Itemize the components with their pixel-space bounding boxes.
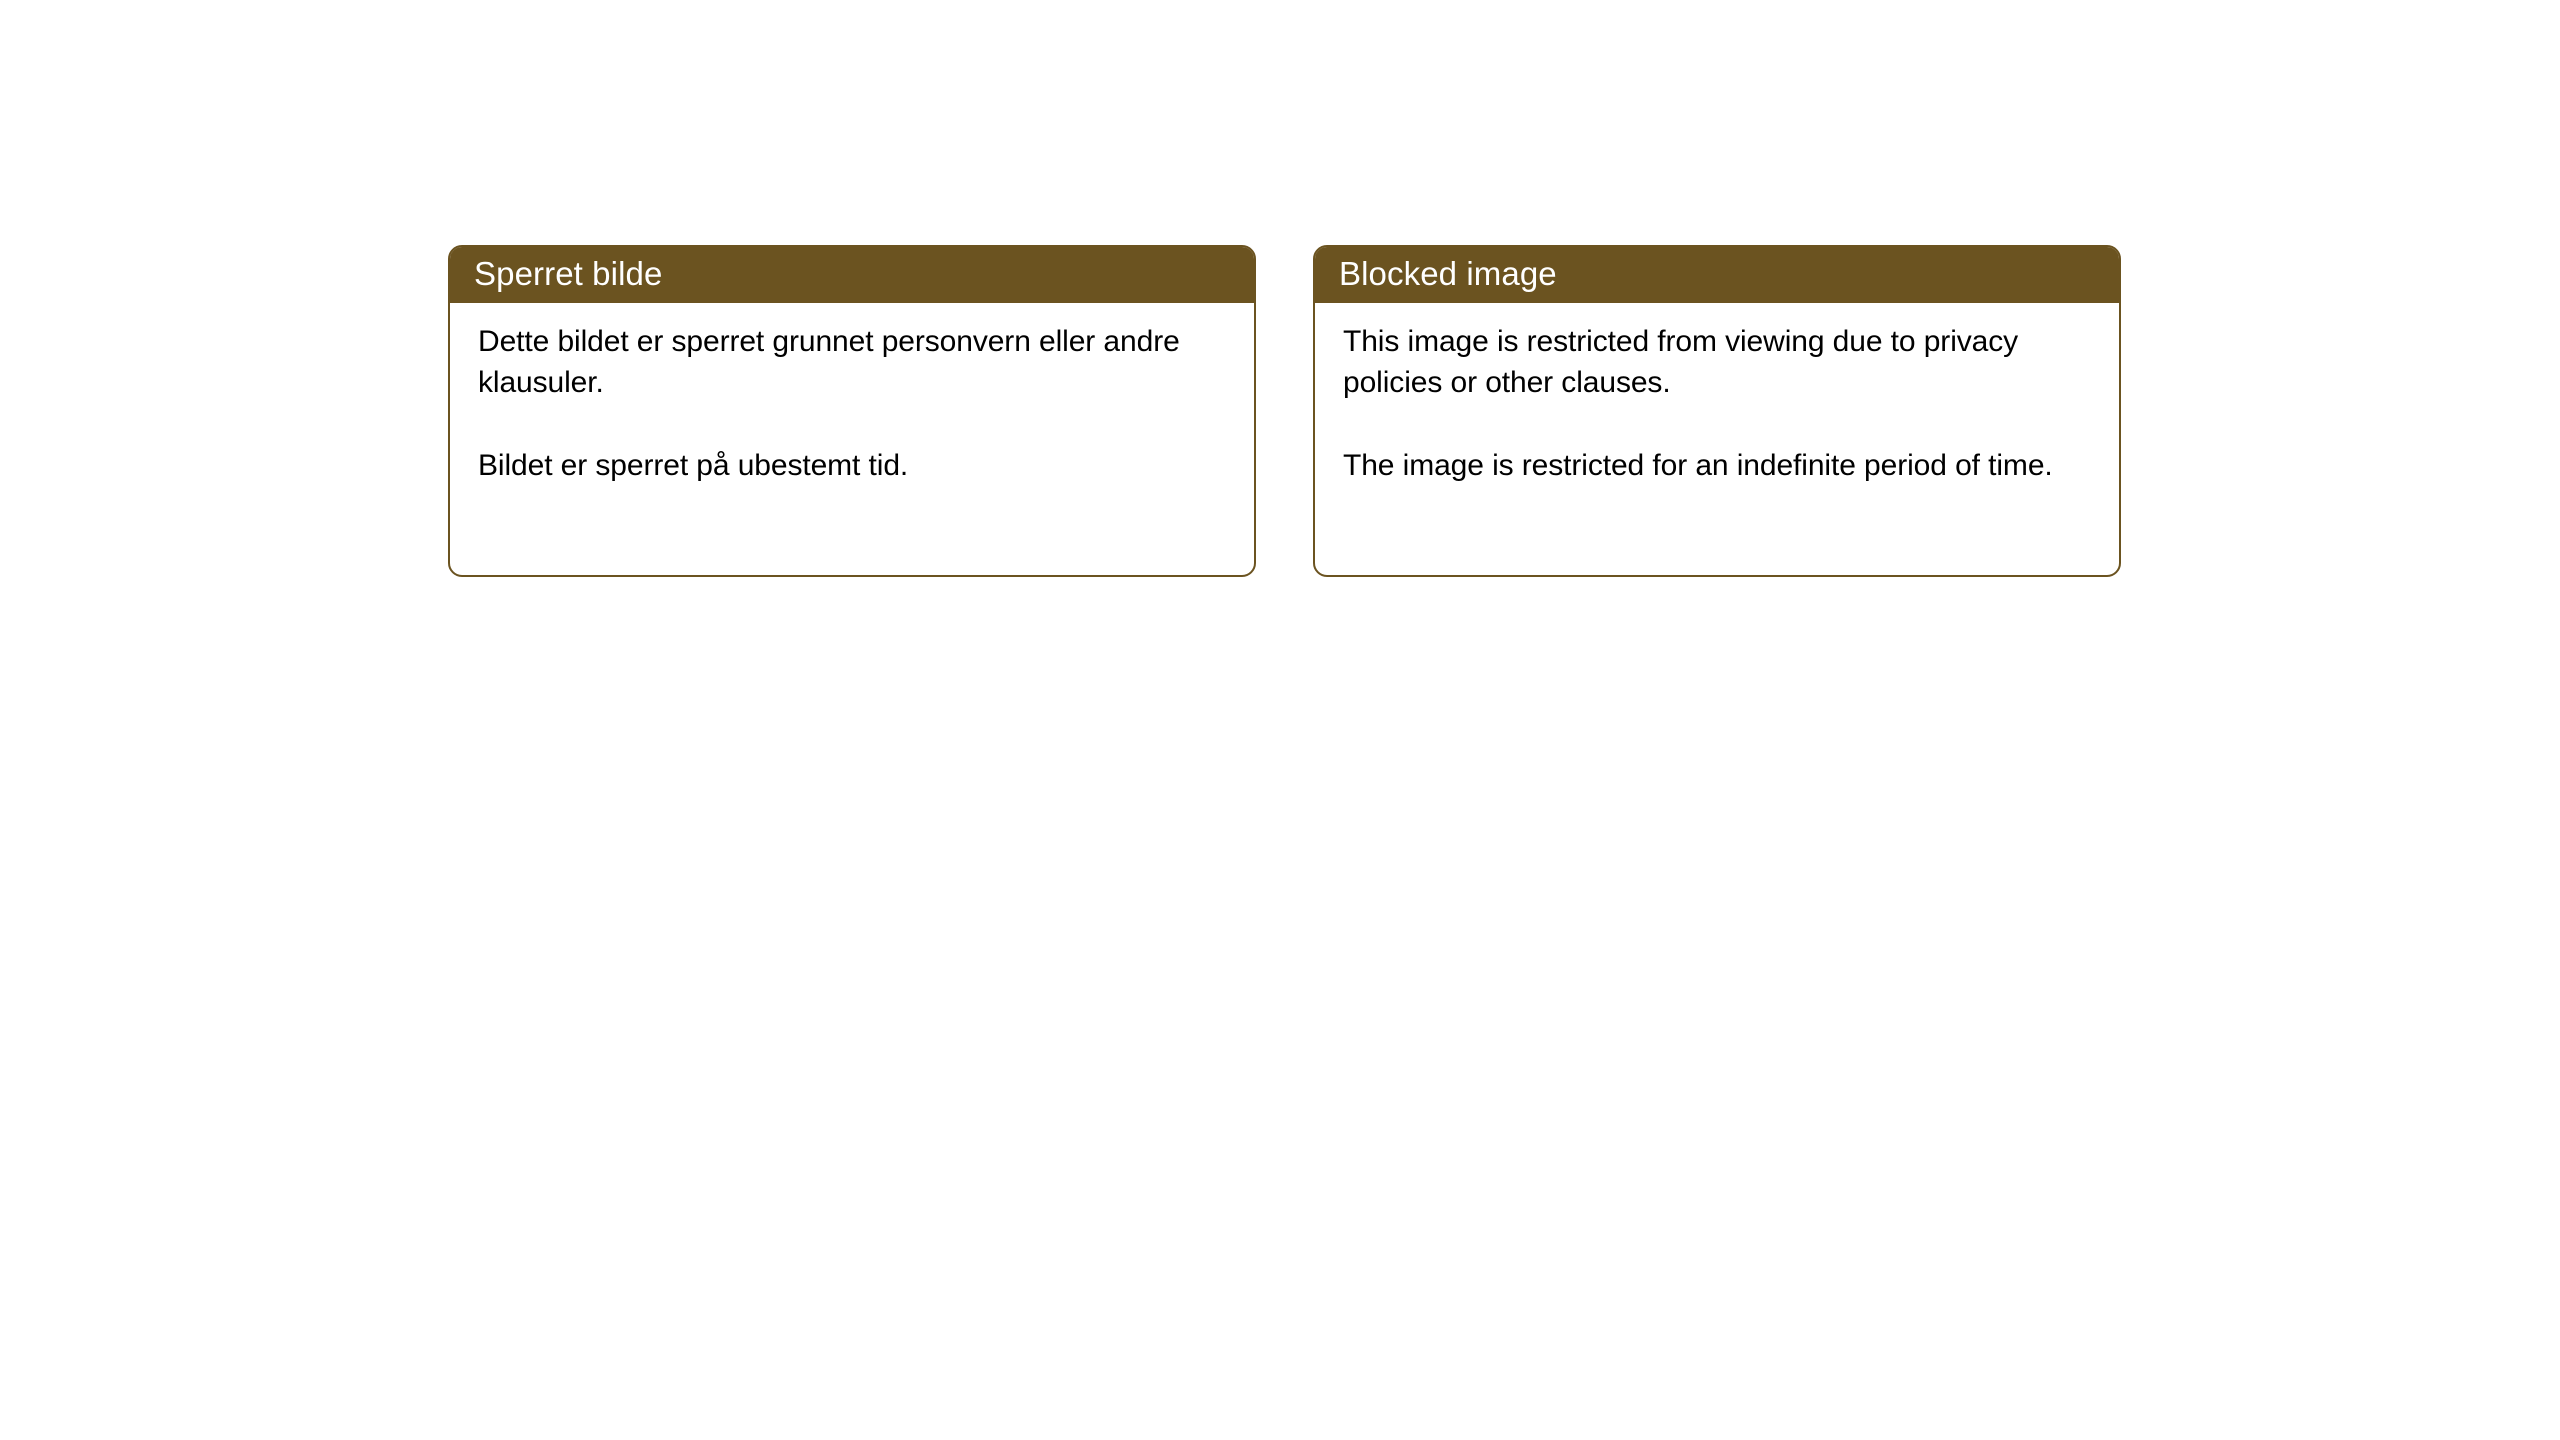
notice-paragraph-english-1: This image is restricted from viewing du… — [1343, 321, 2097, 403]
notice-body-english: This image is restricted from viewing du… — [1315, 303, 2119, 486]
notice-body-norwegian: Dette bildet er sperret grunnet personve… — [450, 303, 1254, 486]
notice-paragraph-norwegian-1: Dette bildet er sperret grunnet personve… — [478, 321, 1232, 403]
blocked-image-notice-card-english: Blocked image This image is restricted f… — [1313, 245, 2121, 577]
page-canvas: Sperret bilde Dette bildet er sperret gr… — [0, 0, 2560, 1440]
notice-header-english: Blocked image — [1313, 245, 2121, 303]
notice-header-norwegian: Sperret bilde — [448, 245, 1256, 303]
notice-paragraph-english-2: The image is restricted for an indefinit… — [1343, 445, 2097, 486]
paragraph-spacer — [478, 403, 1232, 445]
paragraph-spacer — [1343, 403, 2097, 445]
notice-title-norwegian: Sperret bilde — [474, 257, 662, 290]
notice-paragraph-norwegian-2: Bildet er sperret på ubestemt tid. — [478, 445, 1232, 486]
notice-title-english: Blocked image — [1339, 257, 1557, 290]
blocked-image-notice-card-norwegian: Sperret bilde Dette bildet er sperret gr… — [448, 245, 1256, 577]
